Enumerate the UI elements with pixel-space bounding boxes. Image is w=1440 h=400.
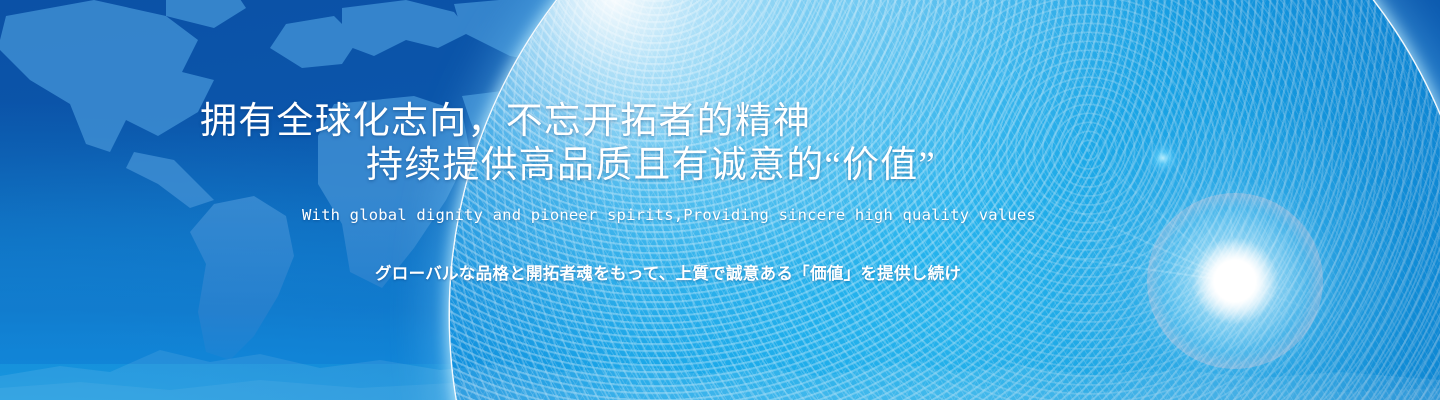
headline-line-2: 持续提供高品质且有诚意的“价值” <box>366 134 936 188</box>
hero-banner: 拥有全球化志向，不忘开拓者的精神 持续提供高品质且有诚意的“价值” With g… <box>0 0 1440 400</box>
subtitle-english: With global dignity and pioneer spirits,… <box>302 206 1036 224</box>
banner-copy: 拥有全球化志向，不忘开拓者的精神 持续提供高品质且有诚意的“价值” With g… <box>0 0 1440 400</box>
subtitle-japanese: グローバルな品格と開拓者魂をもって、上質で誠意ある「価値」を提供し続け <box>375 260 961 284</box>
